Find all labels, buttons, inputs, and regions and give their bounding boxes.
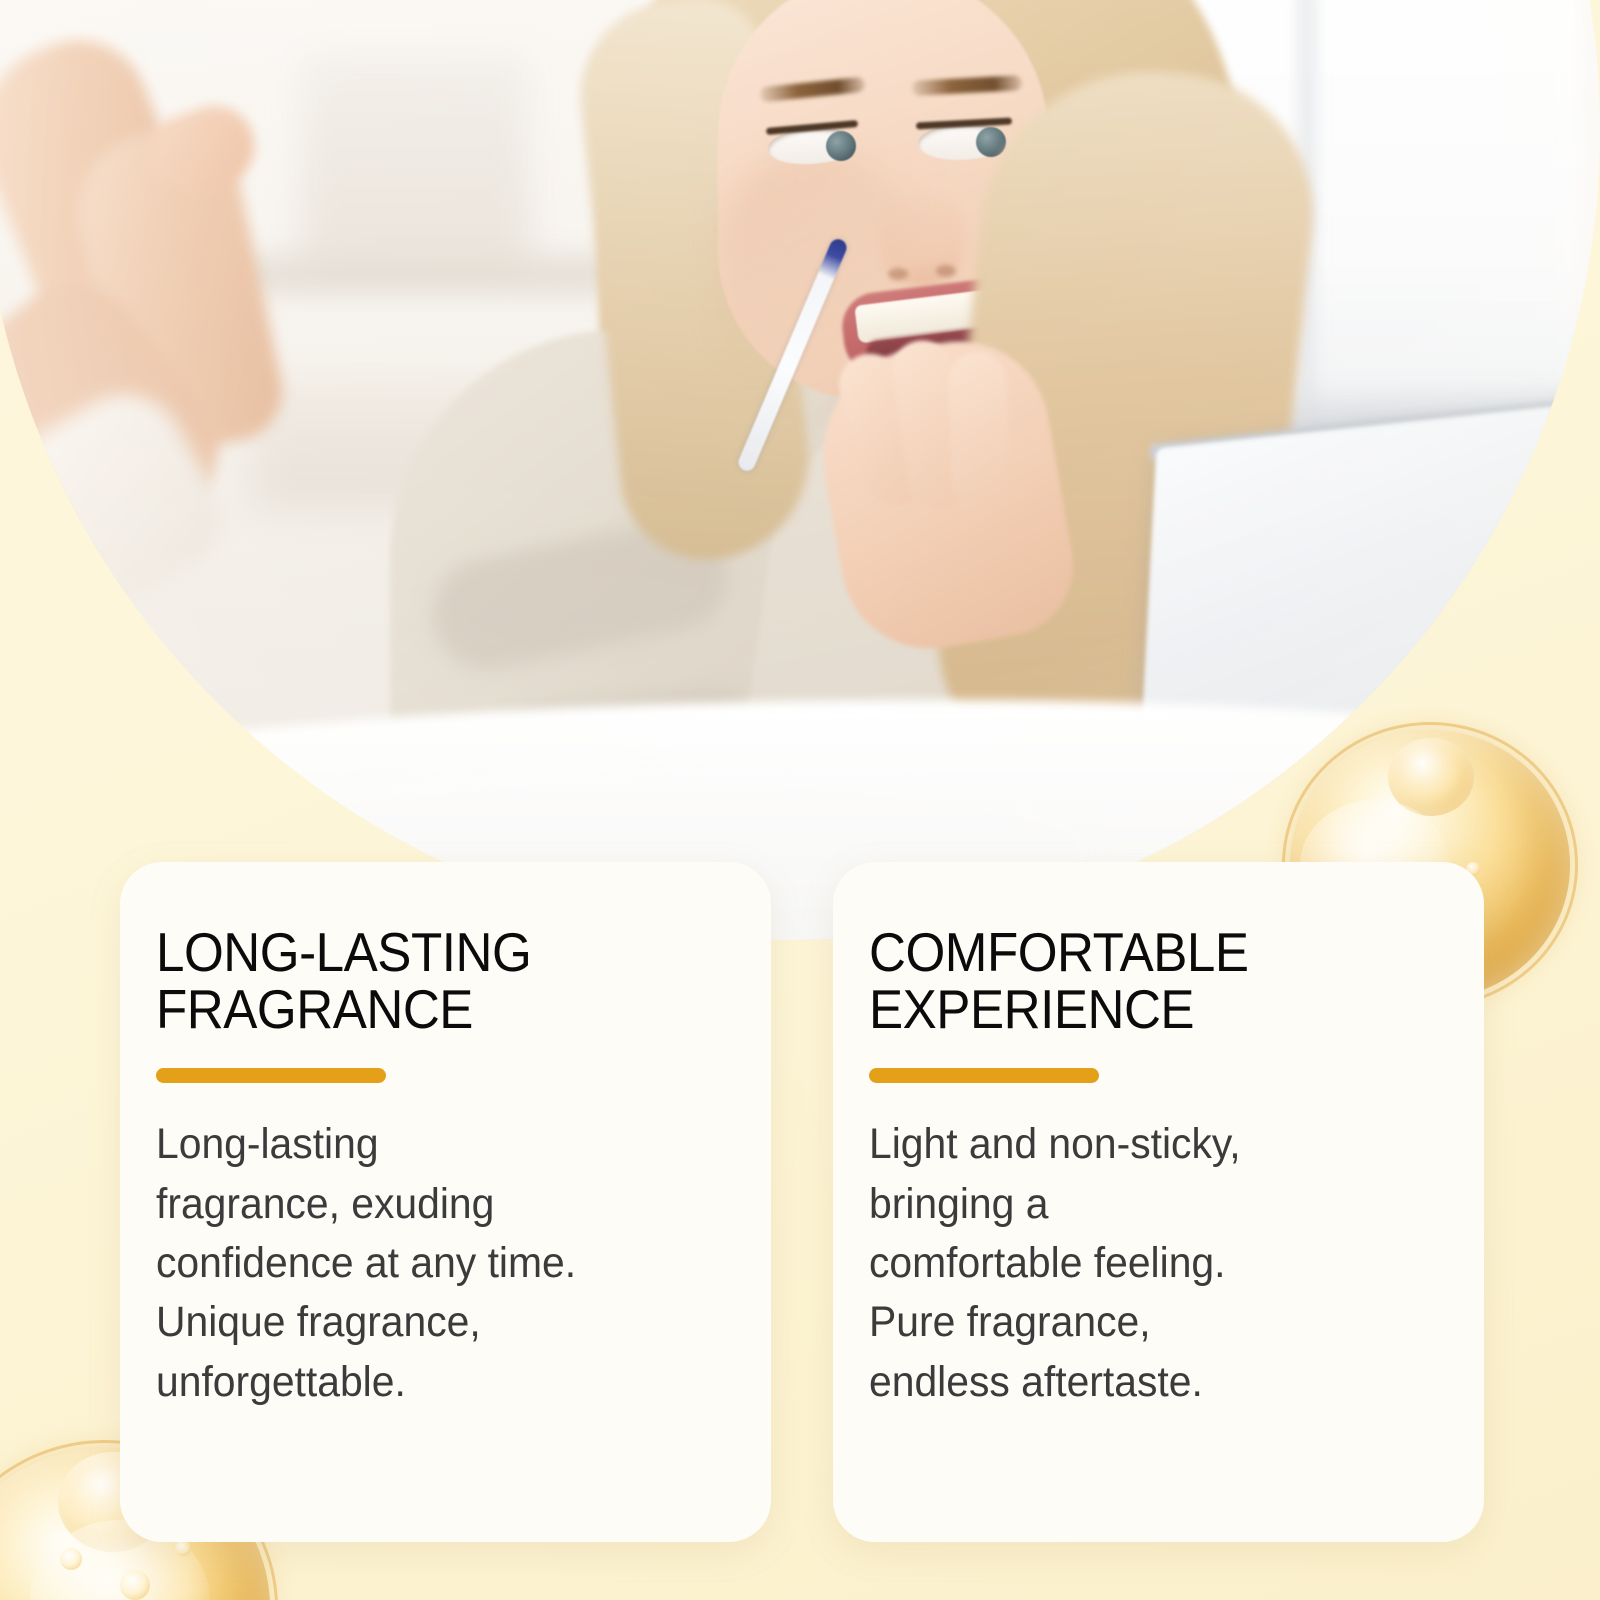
iris-left (826, 131, 856, 161)
micro-bubble-6 (175, 1540, 191, 1556)
feature-card-title: LONG-LASTING FRAGRANCE (156, 924, 678, 1038)
nostril-left (888, 268, 908, 280)
accent-bar (869, 1068, 1099, 1083)
feature-cards: LONG-LASTING FRAGRANCE Long-lasting frag… (120, 862, 1484, 1542)
micro-bubble-4 (60, 1548, 82, 1570)
feature-card-title: COMFORTABLE EXPERIENCE (869, 924, 1391, 1038)
iris-right (976, 127, 1006, 157)
feature-card-comfortable-experience[interactable]: COMFORTABLE EXPERIENCE Light and non-sti… (833, 862, 1484, 1542)
finger-shape-3 (947, 351, 1011, 513)
nostril-right (936, 265, 956, 277)
micro-bubble-5 (120, 1570, 150, 1600)
accent-bar (156, 1068, 386, 1083)
feature-card-body: Light and non-sticky, bringing a comfort… (869, 1115, 1402, 1412)
feature-card-long-lasting-fragrance[interactable]: LONG-LASTING FRAGRANCE Long-lasting frag… (120, 862, 771, 1542)
feature-card-body: Long-lasting fragrance, exuding confiden… (156, 1115, 689, 1412)
promo-banner: LONG-LASTING FRAGRANCE Long-lasting frag… (0, 0, 1600, 1600)
lamp-shape (300, 55, 530, 270)
